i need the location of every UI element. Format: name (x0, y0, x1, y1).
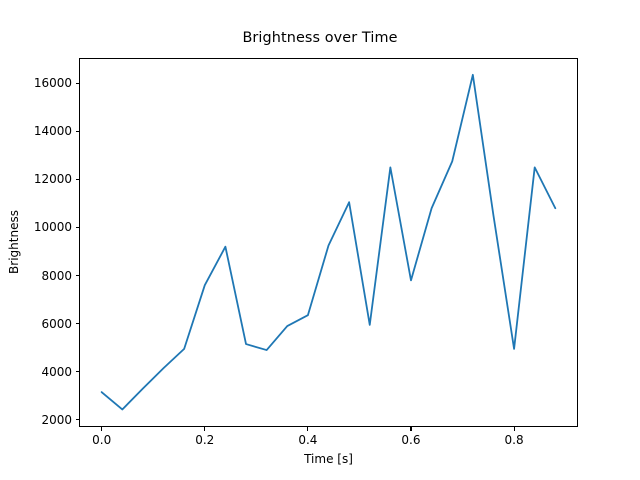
x-tick-mark (204, 427, 205, 431)
x-tick-label: 0.0 (92, 433, 111, 447)
x-tick-mark (307, 427, 308, 431)
x-axis-label: Time [s] (79, 452, 578, 466)
y-tick-label: 4000 (41, 365, 72, 379)
x-tick-label: 0.4 (298, 433, 317, 447)
y-tick-label: 10000 (34, 220, 72, 234)
y-tick-label: 6000 (41, 317, 72, 331)
y-tick-label: 12000 (34, 172, 72, 186)
data-polyline (102, 75, 556, 410)
y-tick-label: 14000 (34, 124, 72, 138)
y-axis-label: Brightness (7, 210, 21, 274)
y-tick-label: 16000 (34, 76, 72, 90)
x-tick-mark (410, 427, 411, 431)
x-tick-label: 0.2 (195, 433, 214, 447)
plot-axes (79, 58, 578, 427)
y-tick-label: 2000 (41, 413, 72, 427)
line-series-brightness (79, 58, 578, 427)
figure-canvas: Brightness over Time 2000400060008000100… (0, 0, 640, 480)
x-tick-mark (101, 427, 102, 431)
chart-title: Brightness over Time (0, 30, 640, 46)
x-tick-label: 0.6 (401, 433, 420, 447)
x-tick-label: 0.8 (505, 433, 524, 447)
x-tick-mark (514, 427, 515, 431)
y-tick-label: 8000 (41, 269, 72, 283)
